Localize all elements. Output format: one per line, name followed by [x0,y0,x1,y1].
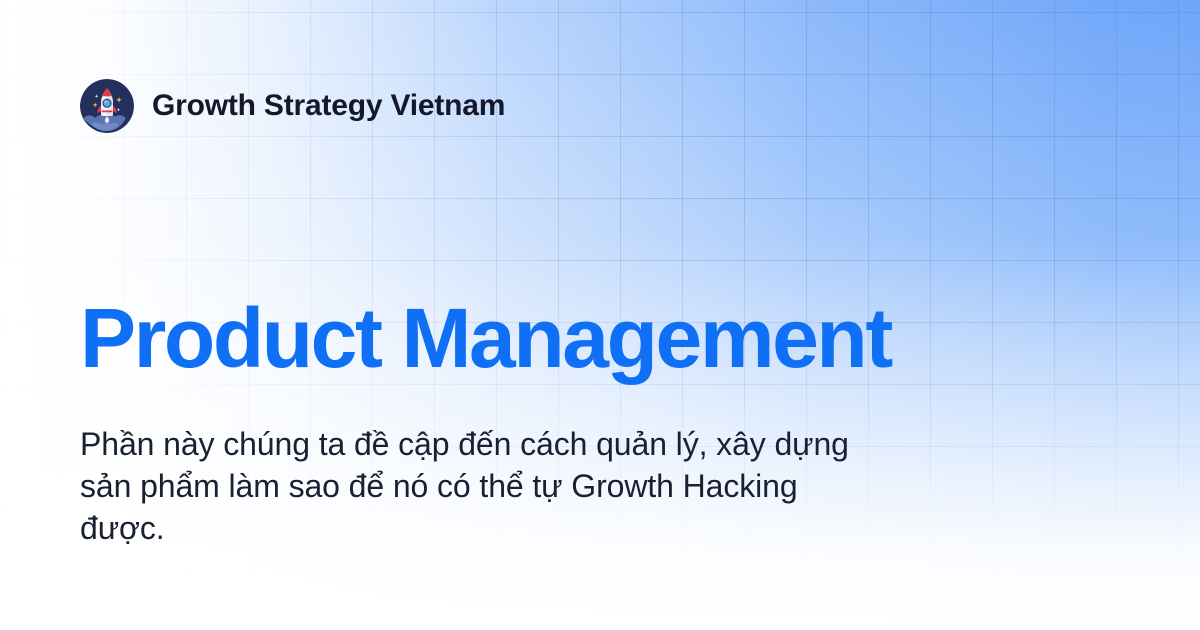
slide-canvas: Growth Strategy Vietnam Product Manageme… [0,0,1200,630]
page-title: Product Management [80,296,891,380]
rocket-icon [80,79,134,133]
brand-name: Growth Strategy Vietnam [152,91,505,121]
hero-description: Phần này chúng ta đề cập đến cách quản l… [80,423,880,549]
brand-header: Growth Strategy Vietnam [80,79,505,133]
